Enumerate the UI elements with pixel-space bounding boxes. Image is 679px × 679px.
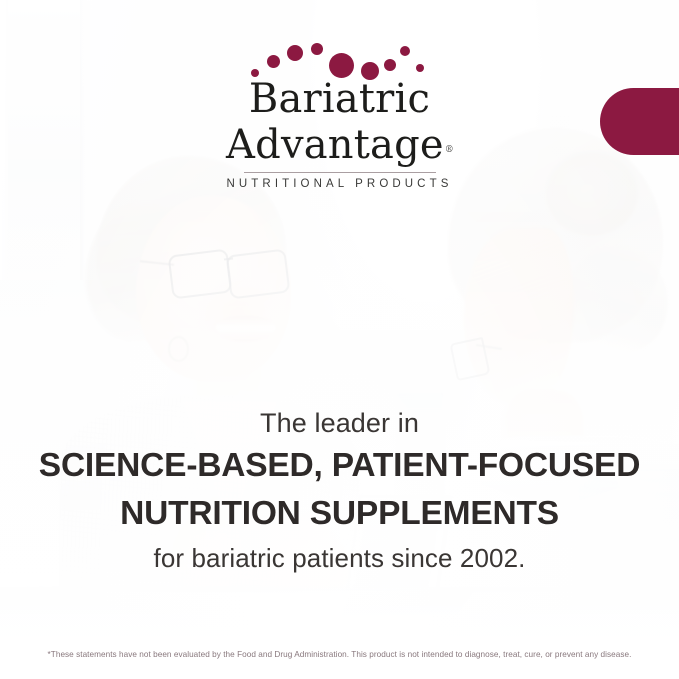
headline-line-2: NUTRITION SUPPLEMENTS — [0, 492, 679, 536]
headline-line-1: SCIENCE-BASED, PATIENT-FOCUSED — [0, 444, 679, 488]
fda-disclaimer: *These statements have not been evaluate… — [0, 650, 679, 659]
logo-wordmark-line1: Bariatric — [0, 79, 679, 119]
logo-wordmark-line2: Advantage® — [226, 125, 453, 165]
logo-tagline: NUTRITIONAL PRODUCTS — [0, 178, 679, 190]
brand-logo: Bariatric Advantage® NUTRITIONAL PRODUCT… — [0, 42, 679, 190]
registered-trademark-icon: ® — [445, 145, 454, 155]
logo-wordmark-line2-text: Advantage — [226, 122, 444, 168]
headline-eyebrow: The leader in — [0, 408, 679, 440]
headline-subline: for bariatric patients since 2002. — [0, 543, 679, 574]
advertisement-image: Bariatric Advantage® NUTRITIONAL PRODUCT… — [0, 0, 679, 679]
brand-dots-icon — [245, 42, 435, 84]
headline-block: The leader in SCIENCE-BASED, PATIENT-FOC… — [0, 408, 679, 574]
logo-divider — [244, 172, 436, 173]
